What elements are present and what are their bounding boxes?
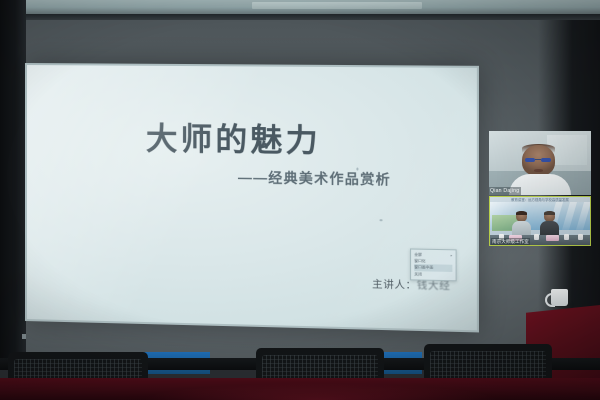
lecture-hall-photo: 大师的魅力 ——经典美术作品赏析 主讲人：钱大经 全屏 ▸ 窗口化 窗口画中画 … xyxy=(0,0,600,400)
menu-item-close[interactable]: 关闭 xyxy=(414,271,452,278)
wall-light-speck xyxy=(22,334,26,339)
cup xyxy=(534,234,539,240)
wall-left-shadow xyxy=(0,0,26,362)
participant-name-label: Qian Dajing xyxy=(489,187,521,195)
glasses-lens-left xyxy=(525,158,535,162)
screen-speck xyxy=(356,168,358,171)
glasses-icon xyxy=(525,158,552,162)
mug xyxy=(551,289,568,306)
video-tile-main[interactable]: Qian Dajing xyxy=(489,131,591,195)
projection-screen: 大师的魅力 ——经典美术作品赏析 主讲人：钱大经 全屏 ▸ 窗口化 窗口画中画 … xyxy=(25,63,479,332)
screen-speck xyxy=(372,180,374,182)
panelist xyxy=(540,211,559,236)
glasses-lens-right xyxy=(541,158,551,162)
video-tile-secondary[interactable]: 教育讲堂：远方视角与学校高质量发展 南京大师级工作室 xyxy=(489,196,591,246)
screen-surface: 大师的魅力 ——经典美术作品赏析 主讲人：钱大经 全屏 ▸ 窗口化 窗口画中画 … xyxy=(27,65,477,330)
secondary-participant-name-label: 南京大师级工作室 xyxy=(491,238,530,245)
panelist-hair xyxy=(544,211,555,215)
presenter-label: 主讲人： xyxy=(372,280,417,292)
panelist-hair xyxy=(516,211,527,215)
slide-subtitle: ——经典美术作品赏析 xyxy=(238,166,391,189)
projector-context-menu[interactable]: 全屏 ▸ 窗口化 窗口画中画 关闭 xyxy=(410,248,457,281)
ceiling-light-panel xyxy=(252,2,422,9)
slide-title: 大师的魅力 xyxy=(146,113,321,161)
cup xyxy=(578,234,583,240)
participant-mouth xyxy=(534,169,543,172)
name-card xyxy=(546,235,559,241)
screen-speck xyxy=(379,219,382,221)
panelist xyxy=(512,211,531,236)
cup xyxy=(564,234,569,240)
carpet-highlight xyxy=(110,380,530,400)
video-conference-panel[interactable]: Qian Dajing 教育讲堂：远方视角与学校高质量发展 xyxy=(489,131,591,246)
menu-item-label: 关闭 xyxy=(414,271,422,278)
stage-banner-text: 教育讲堂：远方视角与学校高质量发展 xyxy=(490,198,590,203)
